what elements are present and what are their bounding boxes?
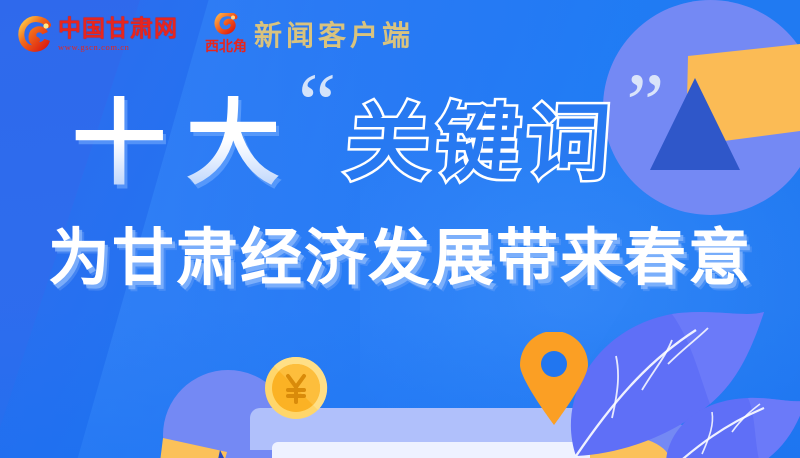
- quote-open-mark: “: [298, 60, 330, 146]
- infographic-banner: 中国甘肃网 www.gscn.com.cn: [0, 0, 800, 458]
- quote-close-mark: ”: [626, 60, 658, 146]
- gscn-swirl-logo-icon: [18, 16, 54, 52]
- publisher-name-cn: 中国甘肃网: [58, 17, 178, 40]
- title-char-shi: 十: [72, 96, 166, 190]
- xibeijiao-name-cn: 西北角: [205, 36, 247, 56]
- title-char-da: 大: [186, 96, 280, 190]
- app-title: 新闻客户端: [254, 14, 414, 54]
- yen-coin-icon: [264, 356, 328, 420]
- location-pin-icon: [518, 332, 590, 426]
- publisher-name-block: 中国甘肃网 www.gscn.com.cn: [58, 17, 178, 52]
- xibeijiao-logo: 西北角: [204, 13, 248, 56]
- light-panel-inner: [272, 442, 590, 458]
- title-keyword: 关键词: [343, 101, 619, 185]
- subtitle: 为甘肃经济发展带来春意: [0, 228, 800, 290]
- header-logos: 中国甘肃网 www.gscn.com.cn: [18, 10, 414, 58]
- publisher-url: www.gscn.com.cn: [58, 43, 178, 52]
- main-title: 十 大 “ 关键词 ”: [0, 96, 800, 190]
- publisher-logo[interactable]: 中国甘肃网 www.gscn.com.cn: [18, 16, 178, 52]
- app-logo-block[interactable]: 西北角 新闻客户端: [204, 13, 414, 56]
- dark-blue-triangle-bottom-icon: [210, 438, 250, 458]
- xibeijiao-drop-logo-icon: [213, 13, 239, 35]
